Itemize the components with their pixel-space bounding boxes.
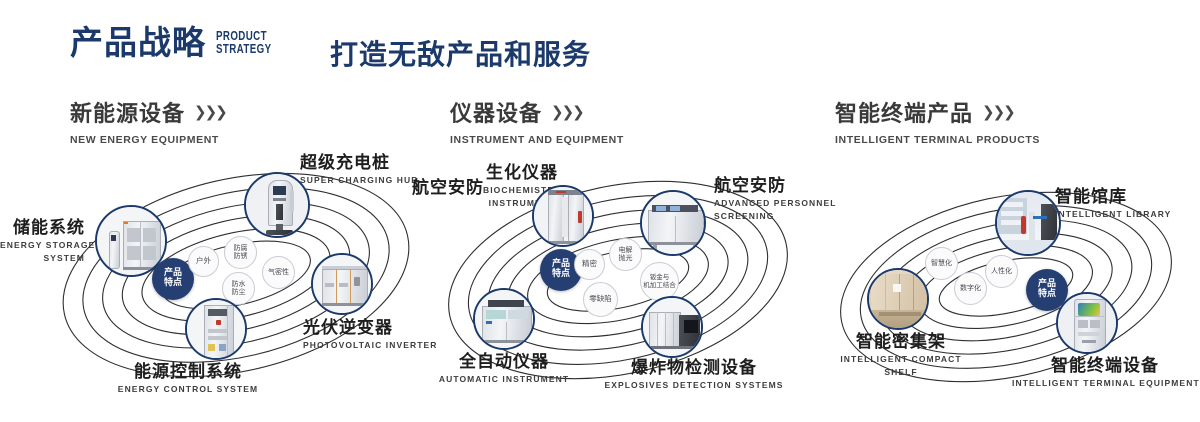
section-title-new-energy: 新能源设备 ❯❯❯ NEW ENERGY EQUIPMENT [70, 96, 226, 146]
section-title-cn-text: 新能源设备 [70, 96, 185, 128]
caption-en-line2: SCREENING [714, 211, 837, 222]
node-intelligent-terminal-equipment[interactable] [1056, 292, 1118, 354]
caption-cn: 储能系统 [0, 218, 85, 238]
page-title-en-line2: STRATEGY [216, 43, 271, 56]
caption-en-line1: AUTOMATIC INSTRUMENT [424, 374, 584, 385]
node-photovoltaic-inverter[interactable] [311, 253, 373, 315]
self-service-kiosk-icon [1058, 294, 1116, 352]
page-title-cn: 产品战略 [70, 26, 206, 59]
biochemistry-scanner-icon [534, 187, 592, 245]
caption-en-line1: INTELLIGENT COMPACT [826, 354, 976, 365]
caption-photovoltaic-inverter: 光伏逆变器 PHOTOVOLTAIC INVERTER [303, 318, 438, 351]
feature-label-line2: 防尘 [232, 288, 246, 296]
node-automatic-instrument[interactable] [473, 288, 535, 350]
energy-storage-cabinet-icon [97, 207, 165, 275]
feature-label: 精密 [582, 260, 597, 268]
chevron-right-icon: ❯❯❯ [194, 103, 226, 121]
automatic-instrument-icon [475, 290, 533, 348]
caption-en-line1: ENERGY CONTROL SYSTEM [88, 384, 288, 395]
core-bubble-line1: 产品 [552, 259, 570, 269]
node-energy-storage-system[interactable] [95, 205, 167, 277]
feature-bubble-intelligent: 智慧化 [925, 247, 958, 280]
page-title: 产品战略 PRODUCT STRATEGY [70, 26, 287, 59]
feature-label: 人性化 [991, 268, 1012, 276]
compact-shelf-icon [869, 270, 927, 328]
feature-label: 零缺陷 [589, 295, 612, 303]
caption-en-line2: SHELF [826, 367, 976, 378]
node-biochemistry-instrument[interactable] [532, 185, 594, 247]
core-bubble-line1: 产品 [164, 268, 182, 278]
feature-bubble-electropolishing: 电解 抛光 [609, 238, 642, 271]
pv-inverter-icon [313, 255, 371, 313]
node-intelligent-library[interactable] [995, 190, 1061, 256]
product-strategy-infographic: 产品战略 PRODUCT STRATEGY 打造无敌产品和服务 新能源设备 ❯❯… [0, 0, 1200, 422]
node-intelligent-compact-shelf[interactable] [867, 268, 929, 330]
feature-bubble-humanized: 人性化 [985, 255, 1018, 288]
feature-label: 户外 [196, 257, 211, 265]
chevron-right-icon: ❯❯❯ [551, 103, 583, 121]
section-title-cn: 智能终端产品 ❯❯❯ [835, 96, 1040, 128]
caption-advanced-personnel-screening: 航空安防 ADVANCED PERSONNEL SCREENING [714, 176, 837, 222]
section-title-cn-text: 智能终端产品 [835, 96, 973, 128]
caption-en-line2: SYSTEM [0, 253, 85, 264]
section-title-en: INSTRUMENT AND EQUIPMENT [450, 134, 624, 146]
control-cabinet-icon [187, 300, 245, 358]
core-bubble-line2: 特点 [1038, 289, 1056, 299]
caption-en-line1: SUPER CHARGING HUB [300, 175, 419, 186]
caption-cn: 全自动仪器 [424, 352, 584, 372]
caption-en-line1: EXPLOSIVES DETECTION SYSTEMS [604, 380, 784, 391]
caption-energy-control-system: 能源控制系统 ENERGY CONTROL SYSTEM [88, 362, 288, 395]
chevron-right-icon: ❯❯❯ [982, 103, 1014, 121]
caption-cn: 能源控制系统 [88, 362, 288, 382]
feature-bubble-outdoor: 户外 [188, 246, 219, 277]
smart-library-icon [997, 192, 1059, 254]
caption-cn: 超级充电桩 [300, 153, 419, 173]
feature-bubble-airtight: 气密性 [262, 256, 295, 289]
feature-label: 智慧化 [931, 260, 952, 268]
section-title-en: NEW ENERGY EQUIPMENT [70, 134, 226, 146]
caption-cn: 爆炸物检测设备 [604, 358, 784, 378]
core-bubble-line2: 特点 [552, 269, 570, 279]
caption-cn: 光伏逆变器 [303, 318, 438, 338]
feature-bubble-anticorrosion: 防腐 防锈 [224, 236, 257, 269]
caption-cn: 智能密集架 [826, 332, 976, 352]
section-title-cn-text: 仪器设备 [450, 96, 542, 128]
caption-cn: 智能馆库 [1055, 187, 1171, 207]
explosives-detector-icon [643, 298, 701, 356]
feature-label: 数字化 [960, 285, 981, 293]
caption-intelligent-library: 智能馆库 INTELLIGENT LIBRARY [1055, 187, 1171, 220]
core-bubble-line1: 产品 [1038, 279, 1056, 289]
feature-bubble-digital: 数字化 [954, 272, 987, 305]
caption-cn: 智能终端设备 [1012, 356, 1198, 376]
caption-cn: 生化仪器 [462, 163, 582, 183]
personnel-screening-icon [642, 192, 704, 254]
caption-en-line1: ENERGY STORAGE [0, 240, 85, 251]
section-title-cn: 仪器设备 ❯❯❯ [450, 96, 624, 128]
caption-explosives-detection-systems: 爆炸物检测设备 EXPLOSIVES DETECTION SYSTEMS [604, 358, 784, 391]
charging-pile-icon [246, 174, 308, 236]
feature-label-line2: 抛光 [619, 254, 633, 262]
feature-bubble-zero-defect: 零缺陷 [583, 282, 618, 317]
core-bubble-line2: 特点 [164, 278, 182, 288]
section-title-instrument: 仪器设备 ❯❯❯ INSTRUMENT AND EQUIPMENT [450, 96, 624, 146]
node-advanced-personnel-screening[interactable] [640, 190, 706, 256]
caption-en-line1: ADVANCED PERSONNEL [714, 198, 837, 209]
caption-en-line1: INTELLIGENT LIBRARY [1055, 209, 1171, 220]
page-title-en: PRODUCT STRATEGY [216, 30, 271, 59]
caption-intelligent-compact-shelf: 智能密集架 INTELLIGENT COMPACT SHELF [826, 332, 976, 378]
caption-super-charging-hub: 超级充电桩 SUPER CHARGING HUB [300, 153, 419, 186]
caption-intelligent-terminal-equipment: 智能终端设备 INTELLIGENT TERMINAL EQUIPMENT [1012, 356, 1198, 389]
caption-cn: 航空安防 [714, 176, 837, 196]
caption-en-line1: PHOTOVOLTAIC INVERTER [303, 340, 438, 351]
page-subtitle: 打造无敌产品和服务 [330, 33, 591, 73]
caption-en-line1: INTELLIGENT TERMINAL EQUIPMENT [1012, 378, 1198, 389]
feature-label-line2: 机加工结合 [643, 281, 676, 289]
section-title-cn: 新能源设备 ❯❯❯ [70, 96, 226, 128]
caption-automatic-instrument: 全自动仪器 AUTOMATIC INSTRUMENT [424, 352, 584, 385]
feature-bubble-precision: 精密 [574, 249, 605, 280]
caption-energy-storage-system: 储能系统 ENERGY STORAGE SYSTEM [0, 218, 85, 264]
section-title-intelligent-terminal: 智能终端产品 ❯❯❯ INTELLIGENT TERMINAL PRODUCTS [835, 96, 1040, 146]
feature-label: 气密性 [268, 269, 289, 277]
node-explosives-detection-systems[interactable] [641, 296, 703, 358]
feature-label-line2: 防锈 [234, 252, 248, 260]
node-energy-control-system[interactable] [185, 298, 247, 360]
section-title-en: INTELLIGENT TERMINAL PRODUCTS [835, 134, 1040, 146]
